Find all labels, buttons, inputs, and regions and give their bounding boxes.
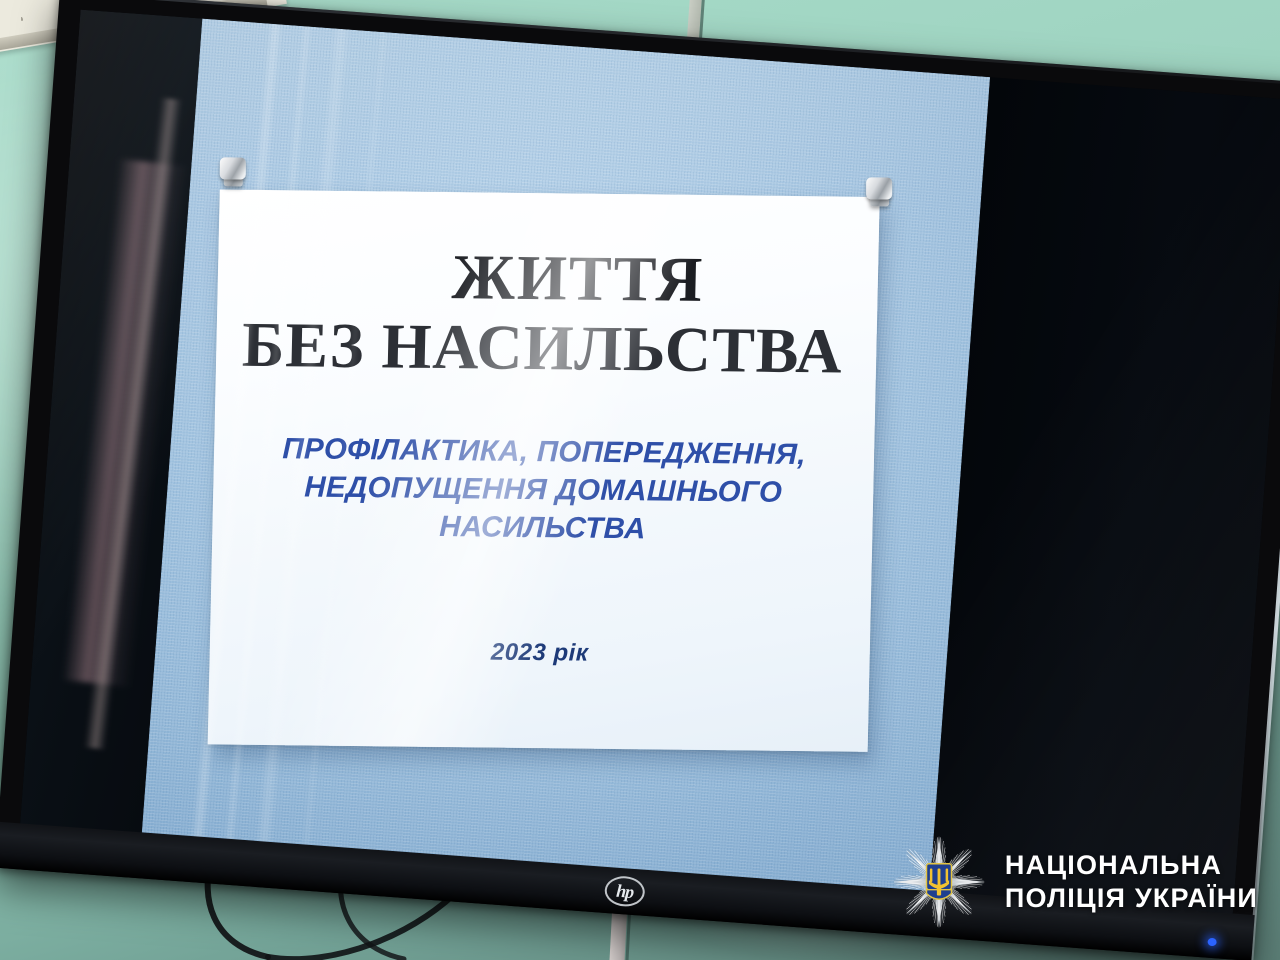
watermark-line-1: НАЦІОНАЛЬНА xyxy=(1005,849,1258,882)
watermark-text: НАЦІОНАЛЬНА ПОЛІЦІЯ УКРАЇНИ xyxy=(1005,849,1258,915)
standoff-bolt-icon-left xyxy=(218,157,252,191)
screen-letterbox-right xyxy=(929,77,1280,915)
plaque-glass-sheen xyxy=(208,189,880,751)
standoff-bolt-icon-right xyxy=(864,177,898,211)
title-plaque: ЖИТТЯ БЕЗ НАСИЛЬСТВА ПРОФІЛАКТИКА, ПОПЕР… xyxy=(208,189,880,751)
watermark-line-2: ПОЛІЦІЯ УКРАЇНИ xyxy=(1005,882,1258,915)
photo-scene: ЖИТТЯ БЕЗ НАСИЛЬСТВА ПРОФІЛАКТИКА, ПОПЕР… xyxy=(0,0,1280,960)
wall-mounted-tv: ЖИТТЯ БЕЗ НАСИЛЬСТВА ПРОФІЛАКТИКА, ПОПЕР… xyxy=(0,0,1280,960)
power-led-indicator xyxy=(1207,938,1217,947)
police-watermark: НАЦІОНАЛЬНА ПОЛІЦІЯ УКРАЇНИ xyxy=(891,834,1258,930)
hp-logo-icon: hp xyxy=(604,875,646,908)
presentation-slide: ЖИТТЯ БЕЗ НАСИЛЬСТВА ПРОФІЛАКТИКА, ПОПЕР… xyxy=(142,19,990,893)
police-star-badge-icon xyxy=(891,834,987,930)
tv-screen: ЖИТТЯ БЕЗ НАСИЛЬСТВА ПРОФІЛАКТИКА, ПОПЕР… xyxy=(20,10,1280,916)
